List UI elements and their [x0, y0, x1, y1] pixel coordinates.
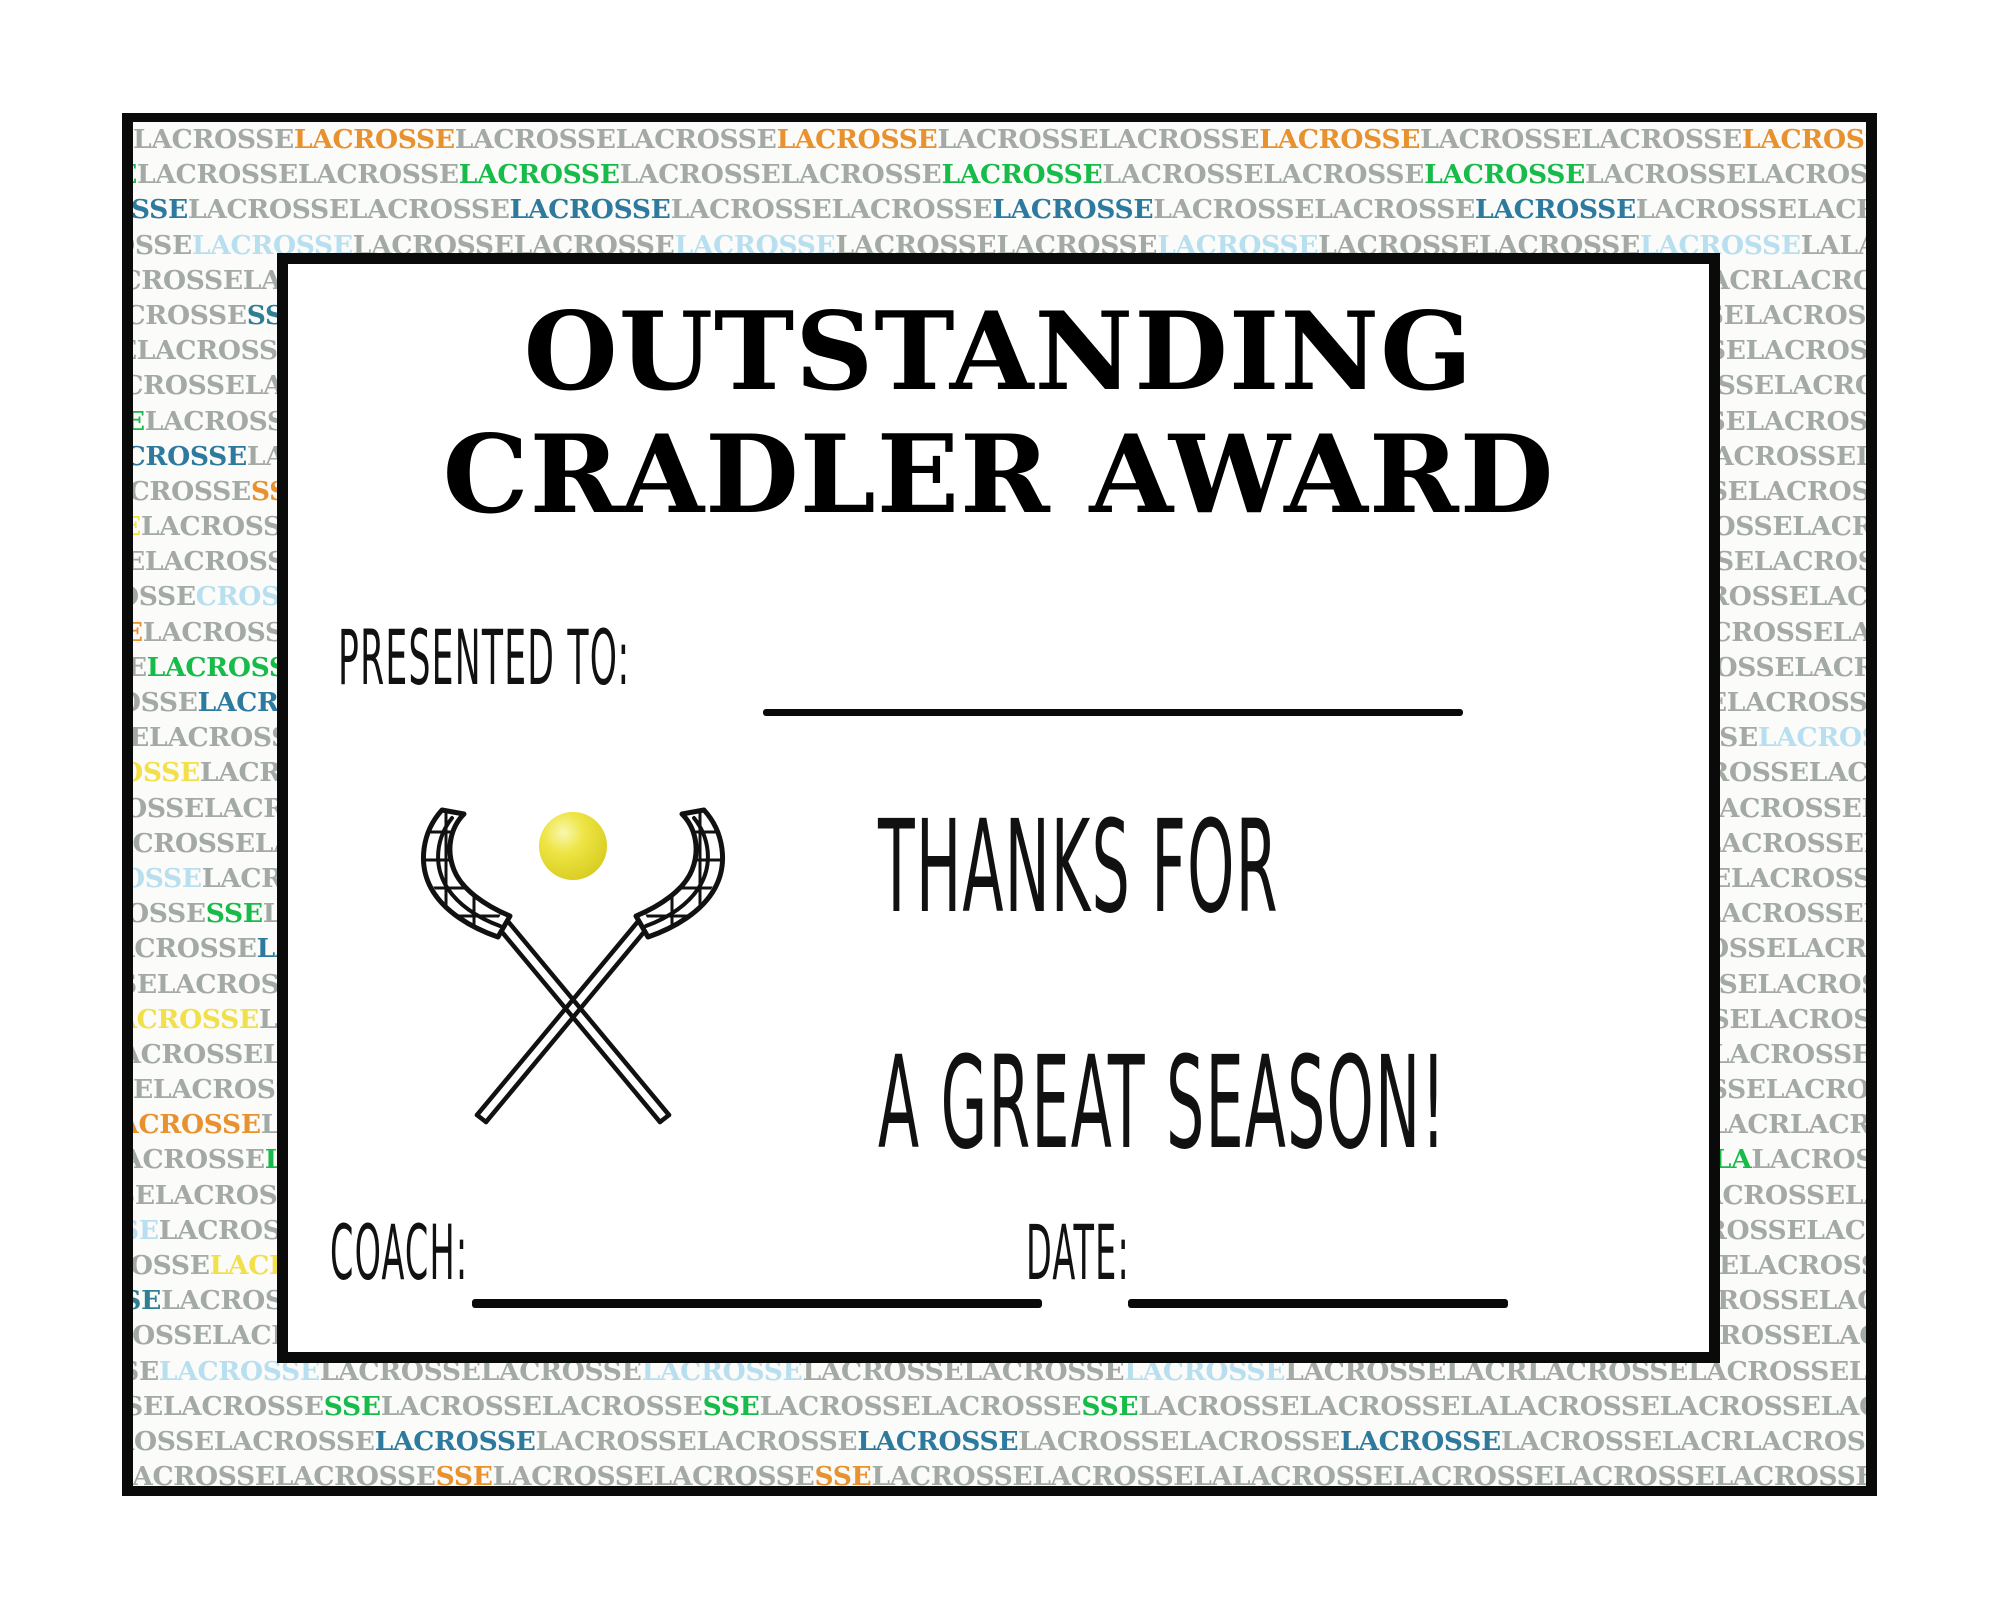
pattern-word: LACROSSELACROSSE	[1420, 124, 1742, 155]
pattern-word: LACROSSELACROSSE	[760, 1391, 1082, 1422]
pattern-word: LACROSSE	[1424, 159, 1585, 190]
pattern-word: LACROSSELACROSSELACROSSELACROSSELACROSSE…	[1839, 230, 1866, 261]
pattern-word: SSE	[133, 406, 145, 437]
pattern-word: LACROSSE	[133, 441, 247, 472]
pattern-word: LACROSSELACROSSE	[133, 933, 257, 964]
pattern-word: LACROSSELACROSSE	[133, 1461, 436, 1486]
coach-input-line[interactable]	[472, 1299, 1042, 1308]
pattern-word: LACROSSELACROSSE	[133, 1250, 210, 1281]
pattern-word: SSE	[1081, 1391, 1138, 1422]
pattern-row: LACROSSELACROSSELACROSSELACROSSELACROSSE…	[133, 1424, 1866, 1459]
pattern-word: LACROSSE	[1742, 124, 1866, 155]
pattern-word: LACROSSELACROSSE	[381, 1391, 703, 1422]
pattern-word: LACROSSELACROSSE	[671, 194, 993, 225]
pattern-word: LACROSSELACROSSE	[133, 581, 196, 612]
pattern-word: LACROSSE	[1758, 722, 1866, 753]
pattern-word: SSE	[133, 1285, 161, 1316]
pattern-word: LACROSSELACROSSE	[133, 898, 206, 929]
pattern-row: SSELACROSSELACROSSESSELACROSSELACROSSESS…	[133, 1389, 1866, 1424]
pattern-word: LACROSSELACROSSE	[937, 124, 1259, 155]
pattern-word: LACROSSELACROSSE	[1153, 194, 1475, 225]
pattern-row: SSELACROSSELACROSSELACROSSELACROSSELACRO…	[133, 157, 1866, 192]
pattern-word: LACROSSE	[992, 194, 1153, 225]
pattern-row: LACROSSELACROSSELACROSSELACROSSELACROSSE…	[133, 192, 1866, 227]
pattern-word: LACROSSELACROSSE	[137, 159, 459, 190]
pattern-word: LACROSSE	[1475, 194, 1636, 225]
pattern-word: LACROSSELACROSSE	[493, 1461, 815, 1486]
pattern-word: LACROSSE	[133, 194, 188, 225]
lacrosse-ball-icon	[539, 812, 607, 880]
title-line-1: OUTSTANDING	[288, 294, 1709, 411]
pattern-word: LACROSSELACROSSELA	[1138, 1391, 1498, 1422]
pattern-word: LACROSSELACR	[1695, 441, 1866, 472]
date-label: DATE:	[1026, 1215, 1130, 1291]
presented-to-input-line[interactable]	[763, 709, 1463, 716]
pattern-word: LACROSSELACROSSELACROSSELACROSSELACROSSE…	[1772, 265, 1866, 296]
pattern-word: LACROSSELACROSSE	[188, 194, 510, 225]
pattern-word: LACROSSELACROSSE	[133, 687, 198, 718]
pattern-word: SSELACROSSE	[133, 230, 192, 261]
coach-label: COACH:	[330, 1215, 468, 1291]
pattern-word: LACROSSELACROSSELACROSSELACROSSELACROSSE…	[1232, 1461, 1866, 1486]
pattern-word: LACROSSELACROSSELA	[871, 1461, 1231, 1486]
pattern-word: LACR	[1709, 1109, 1790, 1140]
pattern-word: SSE	[703, 1391, 760, 1422]
certificate-inner-card: OUTSTANDING CRADLER AWARD PRESENTED TO:	[277, 253, 1720, 1363]
certificate-page: LACROSSELACROSSELACROSSELACROSSELACROSSE…	[0, 0, 2000, 1600]
pattern-word: LACROSSE	[459, 159, 620, 190]
message-block: THANKS FOR A GREAT SEASON!	[878, 804, 1658, 1146]
pattern-word: LACROSSELACROSSELACROSSELACROSSELACROSSE…	[1751, 1144, 1866, 1175]
pattern-word: LACROSSE	[133, 757, 200, 788]
pattern-word: LACROSSE	[777, 124, 938, 155]
pattern-word: SSE	[436, 1461, 493, 1486]
pattern-word: LACROSSELACR	[1636, 194, 1866, 225]
pattern-word: SSELACROSSE	[133, 476, 251, 507]
pattern-word: LACROSSELACROSSE	[133, 300, 247, 331]
pattern-row: LACROSSELACROSSELACROSSELACROSSELACROSSE…	[133, 122, 1866, 157]
pattern-word: LACROSSE	[1259, 124, 1420, 155]
certificate-title: OUTSTANDING CRADLER AWARD	[288, 294, 1709, 533]
pattern-word: LACROSSE	[133, 1215, 159, 1246]
pattern-word: SSE	[206, 898, 263, 929]
pattern-word: LACROSSELACROSSE	[536, 1426, 858, 1457]
pattern-word: LACROSSELACROSSELACROSSELACROSSELACROSSE…	[1743, 1426, 1866, 1457]
presented-to-row: PRESENTED TO:	[338, 634, 1678, 696]
pattern-word: LACROSSE	[133, 1004, 259, 1035]
pattern-word: LACROSSELACROSSE	[133, 1144, 265, 1175]
pattern-word: LACROSSELACROSSE	[133, 1391, 324, 1422]
crossed-lacrosse-sticks-icon	[398, 774, 748, 1134]
pattern-word: LACROSSE	[510, 194, 671, 225]
pattern-word: LACROSSE	[133, 1356, 159, 1387]
signature-row: COACH: DATE:	[288, 1219, 1709, 1339]
pattern-word: LACROSSELACROSSE	[133, 652, 147, 683]
pattern-word: LACROSSE	[133, 124, 294, 155]
lacrosse-sticks-svg	[398, 774, 748, 1134]
pattern-word: LACROSSE	[133, 1109, 261, 1140]
pattern-word: LACROSSE	[375, 1426, 536, 1457]
message-line-2: A GREAT SEASON!	[878, 1040, 1369, 1167]
pattern-word: LACROSSE	[857, 1426, 1018, 1457]
pattern-word: LACROSSELACROSSE	[620, 159, 942, 190]
message-line-1: THANKS FOR	[878, 804, 1369, 931]
pattern-word: LACROSSELACR	[1501, 1426, 1743, 1457]
pattern-word: LACROSSE	[1340, 1426, 1501, 1457]
pattern-row: SSELACROSSESSELACROSSELACROSSESSELACROSS…	[133, 1459, 1866, 1486]
date-input-line[interactable]	[1128, 1299, 1508, 1308]
pattern-word: SSE	[324, 1391, 381, 1422]
pattern-word: SSE	[814, 1461, 871, 1486]
pattern-word: LACROSSE	[133, 863, 202, 894]
pattern-word: LACROSSE	[133, 511, 141, 542]
pattern-word: LACROSSELACROSSE	[1102, 159, 1424, 190]
pattern-word: LACROSSELACROSSE	[133, 1426, 375, 1457]
pattern-word: LACROSSELACROSSELACROSSELACROSSELACROSSE…	[1790, 1109, 1866, 1140]
pattern-word: LACROSSELACROSSE	[455, 124, 777, 155]
pattern-word: LACROSSE	[133, 617, 143, 648]
pattern-word: LACROSSELACROSSE	[1585, 159, 1866, 190]
pattern-word: LACROSSE	[294, 124, 455, 155]
presented-to-label: PRESENTED TO:	[338, 620, 524, 696]
pattern-word: LACROSSELACROSSE	[1018, 1426, 1340, 1457]
pattern-word: LACROSSELACROSSELACROSSELACROSSELACROSSE…	[1499, 1391, 1866, 1422]
pattern-word: LA	[1801, 230, 1840, 261]
pattern-word: LACROSSE	[941, 159, 1102, 190]
title-line-2: CRADLER AWARD	[288, 417, 1709, 534]
